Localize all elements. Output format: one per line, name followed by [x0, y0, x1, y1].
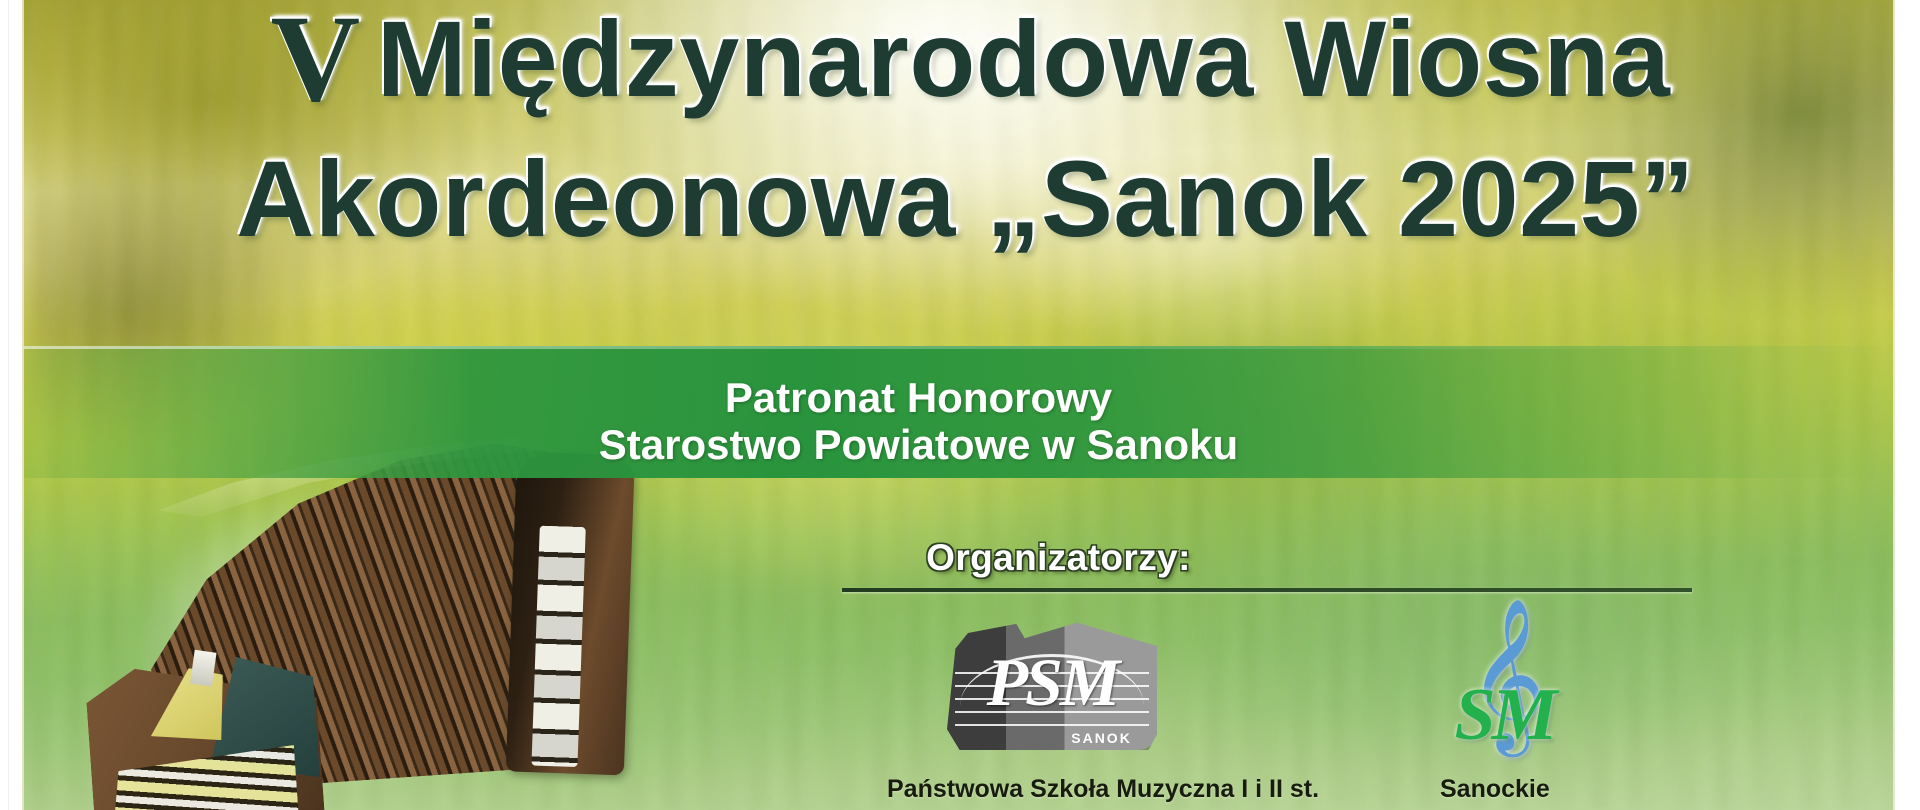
psm-sanok-logo: PSM SANOK — [947, 620, 1157, 750]
poster-edge-left — [22, 0, 24, 810]
page-margin-right — [1895, 0, 1920, 810]
psm-logo-sublabel: SANOK — [1071, 730, 1132, 746]
organizers-heading-text: Organizatorzy: — [926, 537, 1191, 578]
patronage-text-group: Patronat Honorowy Starostwo Powiatowe w … — [22, 374, 1895, 469]
patronage-line-1: Patronat Honorowy — [22, 374, 1815, 421]
title-line-1: VMiędzynarodowa Wiosna — [22, 0, 1895, 122]
psm-logo-letters: PSM — [947, 643, 1157, 722]
title-line-2: Akordeonowa „Sanok 2025” — [22, 144, 1895, 254]
page-margin-left — [0, 0, 22, 810]
psm-logo-caption: Państwowa Szkoła Muzyczna I i II st. — [887, 775, 1319, 804]
page-hairline — [8, 0, 9, 810]
stm-logo-letters: SM — [1414, 678, 1594, 752]
stm-logo-caption: Sanockie — [1440, 775, 1550, 804]
poster-edge-right — [1893, 0, 1895, 810]
organizers-heading: Organizatorzy: — [22, 537, 1895, 579]
poster-root: VMiędzynarodowa Wiosna Akordeonowa „Sano… — [0, 0, 1920, 810]
patronage-line-2: Starostwo Powiatowe w Sanoku — [22, 421, 1815, 468]
title-line-1-text: Międzynarodowa Wiosna — [377, 0, 1671, 119]
stm-sanockie-logo: 𝄞 SM — [1414, 608, 1594, 758]
patronage-band-highlight — [22, 346, 1895, 349]
poster-title: VMiędzynarodowa Wiosna Akordeonowa „Sano… — [22, 0, 1895, 255]
poster-canvas: VMiędzynarodowa Wiosna Akordeonowa „Sano… — [22, 0, 1895, 810]
title-numeral: V — [271, 0, 377, 127]
organizers-divider-rule — [842, 588, 1692, 592]
